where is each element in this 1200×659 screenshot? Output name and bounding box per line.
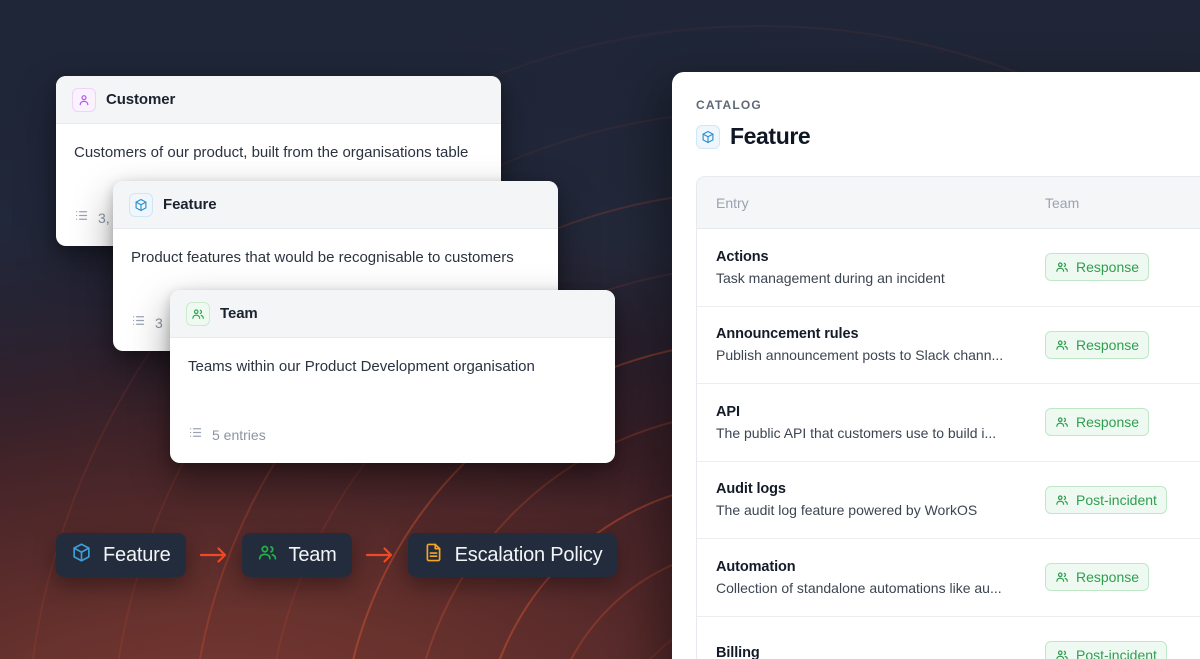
users-icon xyxy=(1055,338,1069,352)
row-entry-cell: Billing xyxy=(697,645,1045,659)
users-icon xyxy=(186,302,210,326)
entry-description: The public API that customers use to bui… xyxy=(716,425,1045,441)
arrow-right-icon xyxy=(365,546,395,564)
entry-name: Billing xyxy=(716,645,1045,659)
table-row[interactable]: API The public API that customers use to… xyxy=(697,384,1200,462)
row-entry-cell: Automation Collection of standalone auto… xyxy=(697,559,1045,596)
pill-team[interactable]: Team xyxy=(242,533,352,577)
list-icon xyxy=(131,313,146,333)
row-team-cell: Response xyxy=(1045,563,1200,591)
table-row[interactable]: Billing Post-incident xyxy=(697,617,1200,659)
card-body: Teams within our Product Development org… xyxy=(170,338,615,378)
entry-name: Actions xyxy=(716,249,1045,265)
row-entry-cell: API The public API that customers use to… xyxy=(697,404,1045,441)
entry-description: Publish announcement posts to Slack chan… xyxy=(716,347,1045,363)
row-team-cell: Response xyxy=(1045,331,1200,359)
entry-description: Collection of standalone automations lik… xyxy=(716,580,1045,596)
card-description: Customers of our product, built from the… xyxy=(74,142,483,164)
row-team-cell: Response xyxy=(1045,408,1200,436)
pill-label: Team xyxy=(289,544,337,567)
table-row[interactable]: Actions Task management during an incide… xyxy=(697,229,1200,307)
entry-count: 3 xyxy=(155,315,163,331)
status-badge[interactable]: Post-incident xyxy=(1045,641,1167,659)
relationship-path: Feature Team Escala xyxy=(56,533,617,577)
users-icon xyxy=(1055,493,1069,507)
arrow-right-icon xyxy=(199,546,229,564)
entry-description: The audit log feature powered by WorkOS xyxy=(716,502,1045,518)
list-icon xyxy=(188,425,203,445)
entry-name: Automation xyxy=(716,559,1045,575)
entry-name: Audit logs xyxy=(716,481,1045,497)
page-title: Feature xyxy=(730,123,810,150)
row-entry-cell: Announcement rules Publish announcement … xyxy=(697,326,1045,363)
entry-count: 5 entries xyxy=(212,427,266,443)
pill-label: Feature xyxy=(103,544,171,567)
card-title: Team xyxy=(220,305,258,322)
page-title-row: Feature xyxy=(696,123,1200,150)
users-icon xyxy=(1055,415,1069,429)
row-team-cell: Post-incident xyxy=(1045,641,1200,659)
row-team-cell: Post-incident xyxy=(1045,486,1200,514)
catalog-panel: CATALOG Feature Entry Team Actions Task … xyxy=(672,72,1200,659)
column-header-entry: Entry xyxy=(697,195,1045,211)
cube-icon xyxy=(129,193,153,217)
breadcrumb: CATALOG xyxy=(696,98,1200,112)
table-row[interactable]: Announcement rules Publish announcement … xyxy=(697,307,1200,385)
table-header: Entry Team xyxy=(697,177,1200,229)
card-header: Feature xyxy=(113,181,558,229)
card-body: Customers of our product, built from the… xyxy=(56,124,501,164)
card-header: Customer xyxy=(56,76,501,124)
status-badge[interactable]: Post-incident xyxy=(1045,486,1167,514)
pill-feature[interactable]: Feature xyxy=(56,533,186,577)
catalog-table: Entry Team Actions Task management durin… xyxy=(696,176,1200,659)
status-badge[interactable]: Response xyxy=(1045,408,1149,436)
status-badge[interactable]: Response xyxy=(1045,253,1149,281)
cube-icon xyxy=(696,125,720,149)
card-description: Teams within our Product Development org… xyxy=(188,356,597,378)
document-icon xyxy=(423,542,444,568)
entry-description: Task management during an incident xyxy=(716,270,1045,286)
pill-escalation-policy[interactable]: Escalation Policy xyxy=(408,533,618,577)
card-header: Team xyxy=(170,290,615,338)
card-title: Customer xyxy=(106,91,175,108)
users-icon xyxy=(1055,648,1069,659)
table-row[interactable]: Audit logs The audit log feature powered… xyxy=(697,462,1200,540)
users-icon xyxy=(257,542,278,568)
cube-icon xyxy=(71,542,92,568)
entry-name: API xyxy=(716,404,1045,420)
badge-label: Post-incident xyxy=(1076,492,1157,508)
entry-name: Announcement rules xyxy=(716,326,1045,342)
badge-label: Response xyxy=(1076,337,1139,353)
list-icon xyxy=(74,208,89,228)
column-header-team: Team xyxy=(1045,195,1200,211)
entity-card-team[interactable]: Team Teams within our Product Developmen… xyxy=(170,290,615,463)
card-title: Feature xyxy=(163,196,217,213)
row-entry-cell: Audit logs The audit log feature powered… xyxy=(697,481,1045,518)
row-entry-cell: Actions Task management during an incide… xyxy=(697,249,1045,286)
card-body: Product features that would be recognisa… xyxy=(113,229,558,269)
badge-label: Post-incident xyxy=(1076,647,1157,659)
user-icon xyxy=(72,88,96,112)
pill-label: Escalation Policy xyxy=(455,544,603,567)
badge-label: Response xyxy=(1076,569,1139,585)
table-row[interactable]: Automation Collection of standalone auto… xyxy=(697,539,1200,617)
badge-label: Response xyxy=(1076,414,1139,430)
status-badge[interactable]: Response xyxy=(1045,331,1149,359)
badge-label: Response xyxy=(1076,259,1139,275)
card-footer: 5 entries xyxy=(170,425,284,463)
row-team-cell: Response xyxy=(1045,253,1200,281)
users-icon xyxy=(1055,260,1069,274)
users-icon xyxy=(1055,570,1069,584)
card-description: Product features that would be recognisa… xyxy=(131,247,540,269)
entry-count: 3, xyxy=(98,210,110,226)
status-badge[interactable]: Response xyxy=(1045,563,1149,591)
